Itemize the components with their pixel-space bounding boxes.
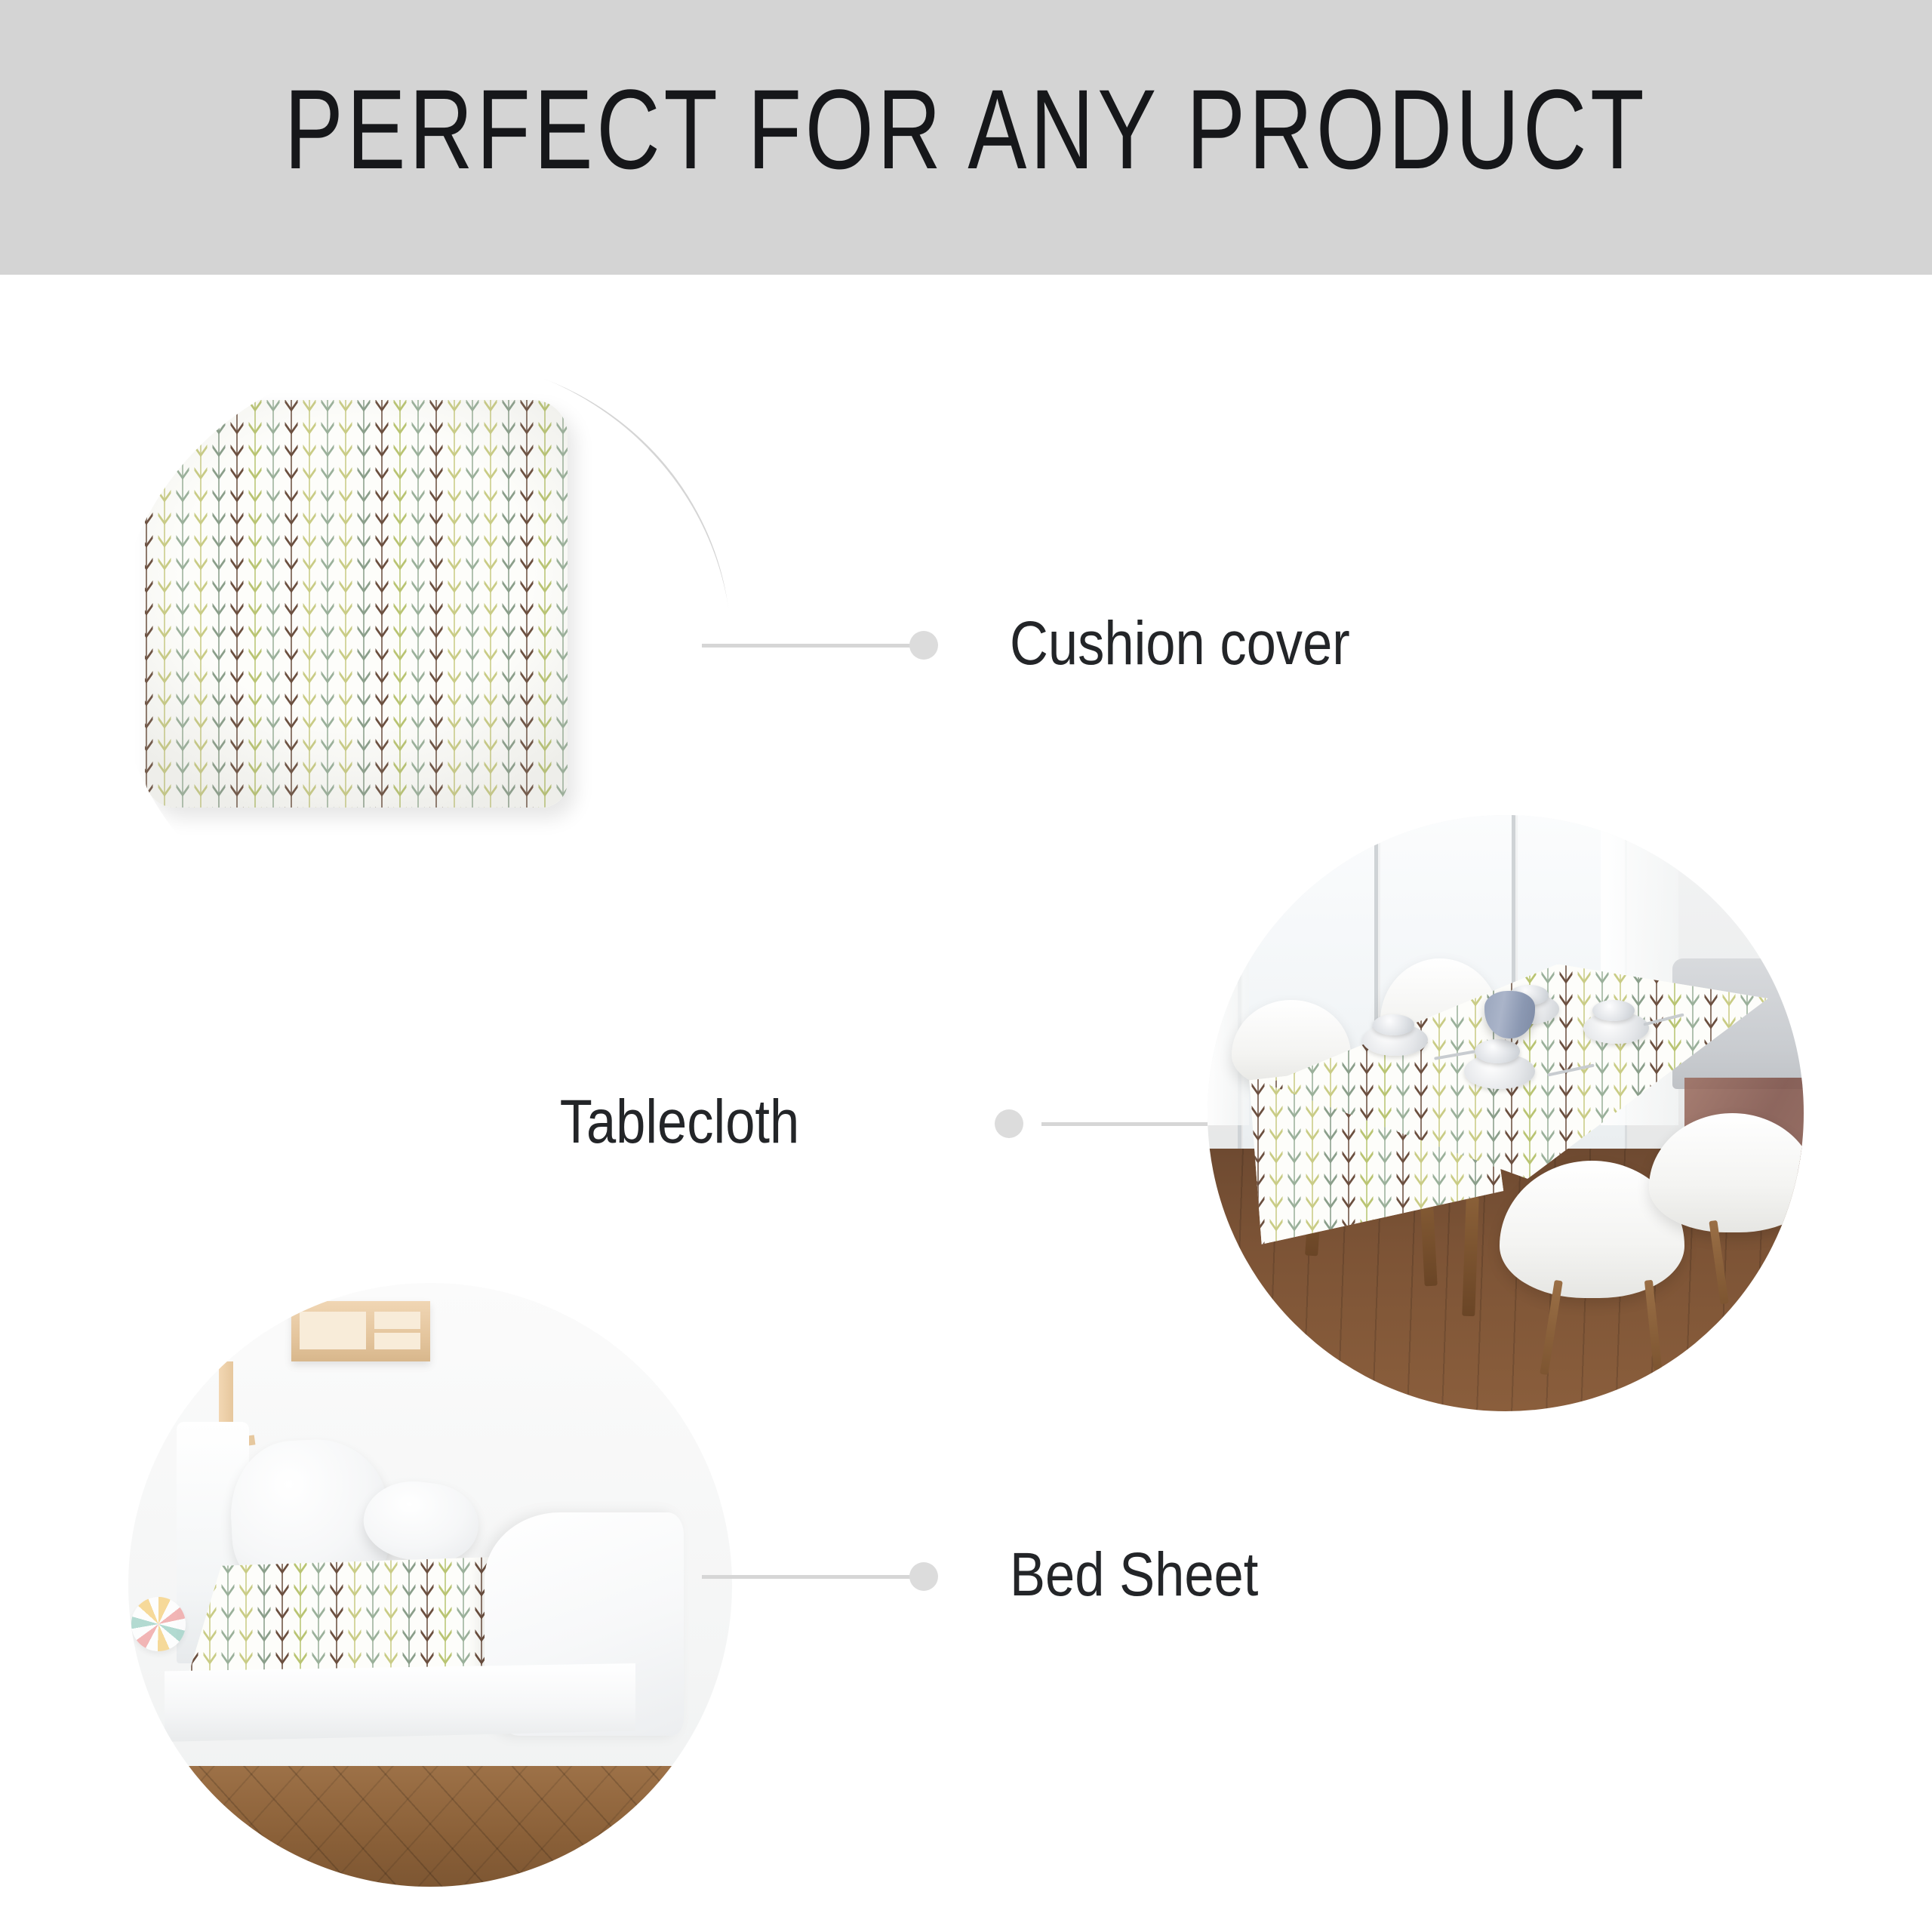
callout-label-bedsheet: Bed Sheet (1010, 1541, 1258, 1609)
bedsheet-section: Bed Sheet (0, 0, 1932, 1932)
wood-floor (128, 1766, 732, 1887)
connector-dot-bedsheet (909, 1562, 938, 1591)
wall-shelf (291, 1301, 430, 1361)
shelf-compartment (374, 1312, 420, 1328)
bedroom-photo (128, 1283, 732, 1887)
shelf-compartment (374, 1333, 420, 1349)
striped-ball (131, 1597, 186, 1651)
shelf-compartment (300, 1312, 366, 1349)
connector-line-bedsheet (702, 1575, 921, 1579)
bed-frame (165, 1663, 635, 1742)
